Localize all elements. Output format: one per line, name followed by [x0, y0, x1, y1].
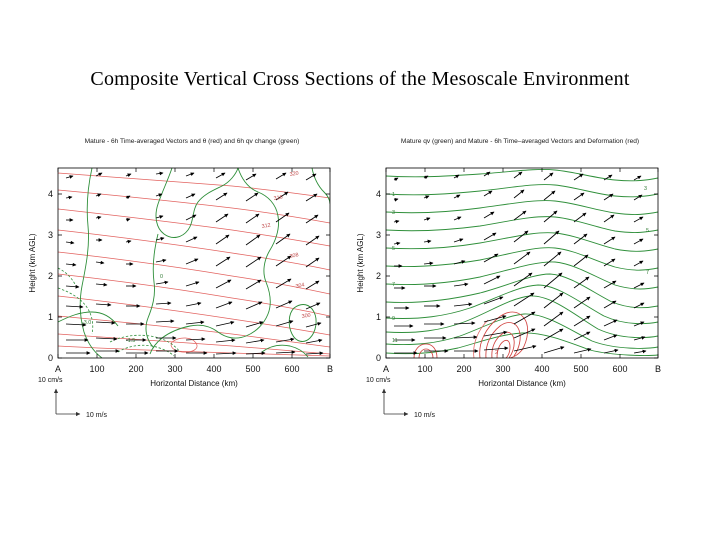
- left-xtick-600: 600: [284, 364, 299, 374]
- right-contour-label-7: 7: [392, 282, 395, 288]
- right-contour-label-3: 3: [392, 210, 395, 216]
- left-xtick-300: 300: [167, 364, 182, 374]
- left-xtick-100: 100: [89, 364, 104, 374]
- right-contour-label-9: 9: [392, 316, 395, 322]
- left-yaxis-label: Height (km AGL): [28, 233, 37, 292]
- left-xaxis-label: Horizontal Distance (km): [150, 379, 238, 388]
- right-legend-vertical-label: 10 cm/s: [366, 377, 391, 384]
- left-contour-label-312: 312: [261, 222, 271, 229]
- left-contour-label-316: 316: [273, 194, 283, 201]
- right-contour-label-7b: 7: [646, 270, 649, 276]
- right-xtick-100: 100: [417, 364, 432, 374]
- right-contour-label-11: 11: [392, 338, 398, 344]
- right-contour-label-5: 5: [392, 246, 395, 252]
- left-ytick-1: 1: [48, 312, 53, 322]
- left-contour-label-320: 320: [289, 170, 299, 177]
- right-qv-contours: [386, 169, 658, 355]
- right-ytick-1: 1: [376, 312, 381, 322]
- right-endpoint-b: B: [655, 364, 661, 374]
- right-xtick-300: 300: [495, 364, 510, 374]
- left-legend-vertical-label: 10 cm/s: [38, 377, 63, 384]
- right-contour-label-2: 2: [495, 350, 498, 356]
- page-title: Composite Vertical Cross Sections of the…: [0, 68, 720, 91]
- right-xtick-500: 500: [573, 364, 588, 374]
- right-ytick-0: 0: [376, 353, 381, 363]
- right-plot-contours: [386, 169, 658, 358]
- right-contour-label-1: 1: [392, 192, 395, 198]
- right-ytick-2: 2: [376, 271, 381, 281]
- left-contour-label-neg15: -1.5: [126, 338, 135, 344]
- right-xaxis-label: Horizontal Distance (km): [478, 379, 566, 388]
- panel-left-cross-section: Mature - 6h Time-averaged Vectors and θ …: [22, 138, 362, 428]
- right-wind-vectors: [394, 172, 646, 353]
- left-ytick-3: 3: [48, 230, 53, 240]
- right-contour-label-5b: 5: [646, 228, 649, 234]
- right-ytick-3: 3: [376, 230, 381, 240]
- left-ytick-0: 0: [48, 353, 53, 363]
- right-contour-label-3b: 3: [644, 186, 647, 192]
- left-endpoint-b: B: [327, 364, 333, 374]
- panel-right-cross-section: Mature qv (green) and Mature - 6h Time–a…: [350, 138, 690, 428]
- right-endpoint-a: A: [383, 364, 389, 374]
- right-xtick-600: 600: [612, 364, 627, 374]
- left-contour-label-308: 308: [289, 252, 299, 260]
- left-plot-contours: [58, 168, 330, 358]
- left-contour-label-neg30: -3.0: [82, 320, 91, 326]
- left-legend-horizontal-label: 10 m/s: [86, 412, 108, 419]
- right-yaxis-label: Height (km AGL): [356, 233, 365, 292]
- left-contour-label-300: 300: [301, 312, 311, 319]
- panel-left-figure: 320 316 312 308 304 300 0 -1.5 -3.0 0 1 …: [22, 146, 362, 428]
- right-ytick-4: 4: [376, 189, 381, 199]
- panel-right-figure: 1 3 5 7 9 11 3 5 7 2 0 1 2 3 4 A 100 2: [350, 146, 690, 428]
- left-ytick-2: 2: [48, 271, 53, 281]
- left-ytick-4: 4: [48, 189, 53, 199]
- left-endpoint-a: A: [55, 364, 61, 374]
- panel-right-title: Mature qv (green) and Mature - 6h Time–a…: [350, 138, 690, 145]
- right-xtick-400: 400: [534, 364, 549, 374]
- left-theta-contours: [58, 173, 330, 356]
- left-vector-legend: 10 cm/s 10 m/s: [38, 377, 108, 419]
- slide-canvas: Composite Vertical Cross Sections of the…: [0, 0, 720, 540]
- left-xtick-400: 400: [206, 364, 221, 374]
- right-xtick-200: 200: [456, 364, 471, 374]
- right-vector-legend: 10 cm/s 10 m/s: [366, 377, 436, 419]
- panel-left-title: Mature - 6h Time-averaged Vectors and θ …: [22, 138, 362, 145]
- left-contour-label-0: 0: [160, 274, 163, 280]
- left-xtick-500: 500: [245, 364, 260, 374]
- right-legend-horizontal-label: 10 m/s: [414, 412, 436, 419]
- left-xtick-200: 200: [128, 364, 143, 374]
